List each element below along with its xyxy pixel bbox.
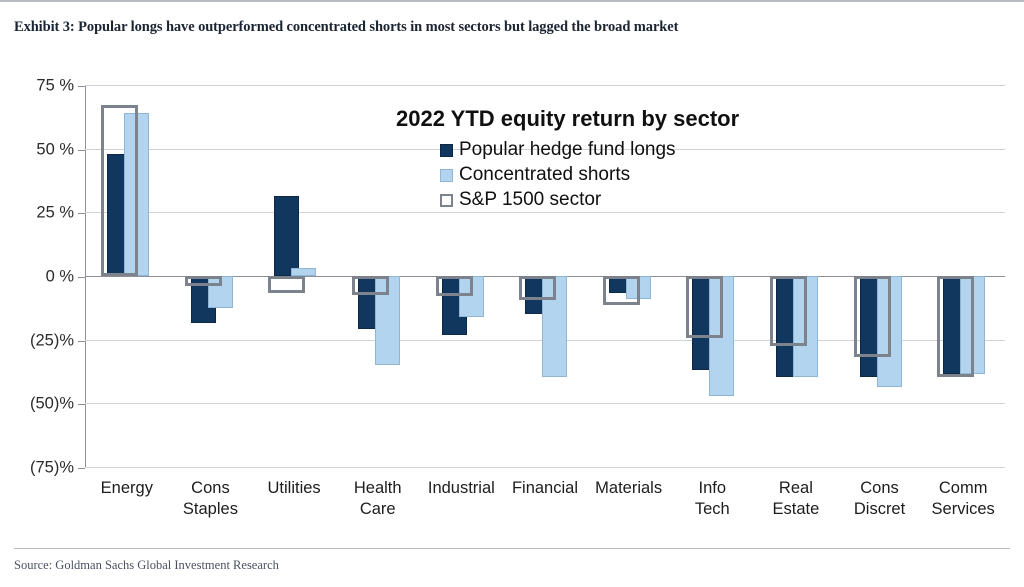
y-tick-mark-75 (78, 86, 85, 87)
y-tick-label: 25 % (36, 204, 74, 223)
legend-title: 2022 YTD equity return by sector (396, 106, 739, 132)
legend-swatch-shorts (440, 169, 453, 182)
y-tick-mark--75 (78, 468, 85, 469)
chart-legend: 2022 YTD equity return by sector Popular… (396, 106, 739, 211)
bar-spx[interactable] (268, 276, 305, 293)
x-axis-label-line: Comm (913, 478, 1013, 499)
chart-figure: 75 %50 %25 %0 %(25)%(50)%(75)% EnergyCon… (0, 46, 1024, 533)
x-axis-label-line: Services (913, 499, 1013, 520)
bar-spx[interactable] (770, 276, 807, 346)
bar-spx[interactable] (436, 276, 473, 296)
gridline--75: (75)% (85, 467, 1005, 468)
bar-spx[interactable] (686, 276, 723, 338)
legend-label: S&P 1500 sector (459, 189, 601, 211)
bar-group (921, 85, 1005, 467)
bar-group (85, 85, 169, 467)
bar-shorts[interactable] (291, 268, 316, 276)
y-tick-label: 0 % (46, 268, 74, 287)
bar-group (169, 85, 253, 467)
x-axis-label-line: Staples (161, 499, 261, 520)
legend-swatch-spx (440, 194, 453, 207)
legend-item[interactable]: Popular hedge fund longs (440, 139, 739, 161)
y-tick-mark--50 (78, 404, 85, 405)
bar-spx[interactable] (352, 276, 389, 295)
y-tick-label: (25)% (30, 331, 74, 350)
y-tick-mark-0 (78, 277, 85, 278)
source-text: Source: Goldman Sachs Global Investment … (14, 558, 1010, 573)
y-tick-mark-50 (78, 150, 85, 151)
legend-items: Popular hedge fund longsConcentrated sho… (396, 139, 739, 211)
bar-spx[interactable] (185, 276, 222, 286)
bar-group (838, 85, 922, 467)
x-axis-label-line: Care (328, 499, 428, 520)
bar-spx[interactable] (519, 276, 556, 300)
legend-item[interactable]: S&P 1500 sector (440, 189, 739, 211)
source-footer: Source: Goldman Sachs Global Investment … (14, 548, 1010, 573)
y-tick-label: (75)% (30, 459, 74, 478)
bar-longs[interactable] (274, 196, 299, 276)
x-axis-label: CommServices (913, 478, 1013, 520)
legend-label: Popular hedge fund longs (459, 139, 676, 161)
bar-spx[interactable] (101, 105, 138, 276)
y-tick-label: 75 % (36, 77, 74, 96)
y-tick-mark--25 (78, 341, 85, 342)
bar-spx[interactable] (603, 276, 640, 305)
legend-label: Concentrated shorts (459, 164, 630, 186)
legend-item[interactable]: Concentrated shorts (440, 164, 739, 186)
y-tick-label: 50 % (36, 140, 74, 159)
bar-group (754, 85, 838, 467)
y-tick-mark-25 (78, 213, 85, 214)
bar-spx[interactable] (937, 276, 974, 377)
legend-swatch-longs (440, 144, 453, 157)
bar-spx[interactable] (854, 276, 891, 357)
y-tick-label: (50)% (30, 395, 74, 414)
exhibit-title: Exhibit 3: Popular longs have outperform… (14, 19, 678, 36)
bar-group (252, 85, 336, 467)
exhibit-header: Exhibit 3: Popular longs have outperform… (0, 0, 1024, 48)
